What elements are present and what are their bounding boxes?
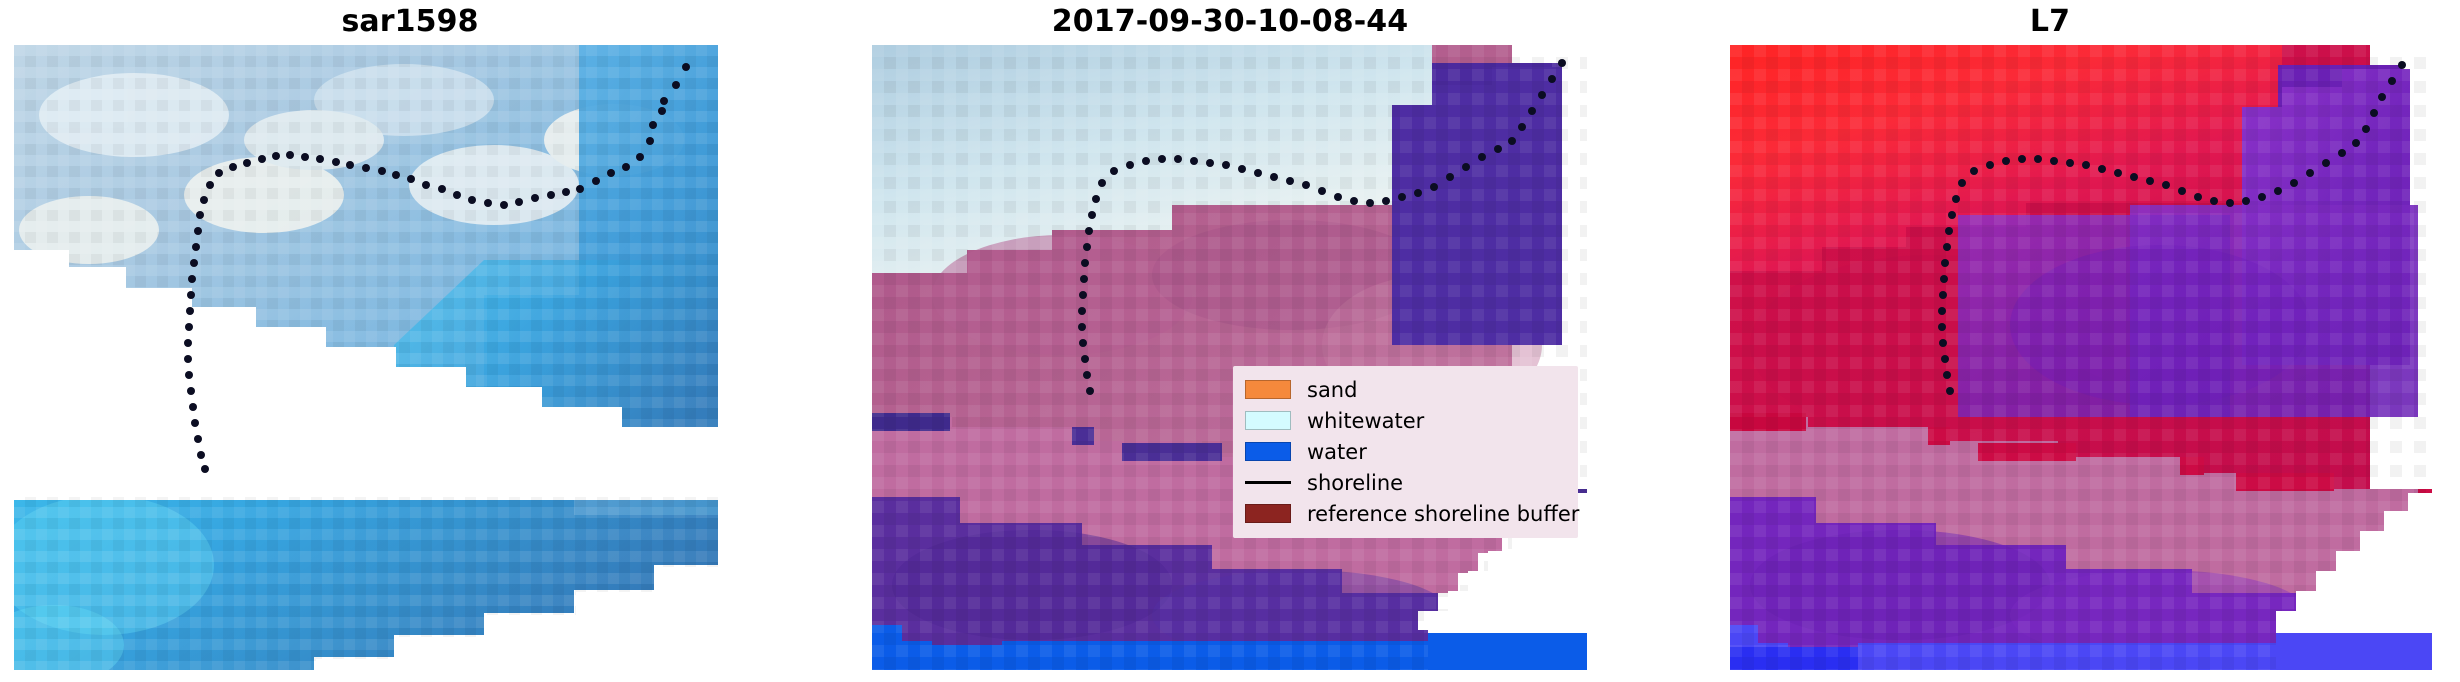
panel-classified-overlay: 2017-09-30-10-08-44 <box>820 0 1640 682</box>
legend-item-water: water <box>1245 436 1568 467</box>
legend-label-whitewater: whitewater <box>1307 409 1424 433</box>
legend-label-water: water <box>1307 440 1367 464</box>
legend-label-shoreline: shoreline <box>1307 471 1403 495</box>
image-axes-2 <box>1730 45 2432 670</box>
panel-title-1: 2017-09-30-10-08-44 <box>820 4 1640 39</box>
legend-item-whitewater: whitewater <box>1245 405 1568 436</box>
legend-item-reference-shoreline-buffer: reference shoreline buffer <box>1245 498 1568 529</box>
legend: sand whitewater water shoreline referenc… <box>1233 366 1578 538</box>
raster-image-2 <box>1730 45 2432 670</box>
sand-swatch-icon <box>1245 380 1291 399</box>
panel-title-2: L7 <box>1640 4 2460 39</box>
panel-title-0: sar1598 <box>0 4 820 39</box>
image-axes-0 <box>14 45 718 670</box>
image-axes-1 <box>872 45 1587 670</box>
panel-sar1598: sar1598 <box>0 0 820 682</box>
raster-image-0 <box>14 45 718 670</box>
raster-image-1 <box>872 45 1587 670</box>
legend-item-sand: sand <box>1245 374 1568 405</box>
legend-label-sand: sand <box>1307 378 1357 402</box>
figure-canvas: sar1598 <box>0 0 2460 682</box>
whitewater-swatch-icon <box>1245 411 1291 430</box>
panel-l7: L7 <box>1640 0 2460 682</box>
reference-shoreline-buffer-swatch-icon <box>1245 504 1291 523</box>
legend-label-reference-shoreline-buffer: reference shoreline buffer <box>1307 502 1579 526</box>
legend-item-shoreline: shoreline <box>1245 467 1568 498</box>
water-swatch-icon <box>1245 442 1291 461</box>
shoreline-line-icon <box>1245 473 1291 492</box>
